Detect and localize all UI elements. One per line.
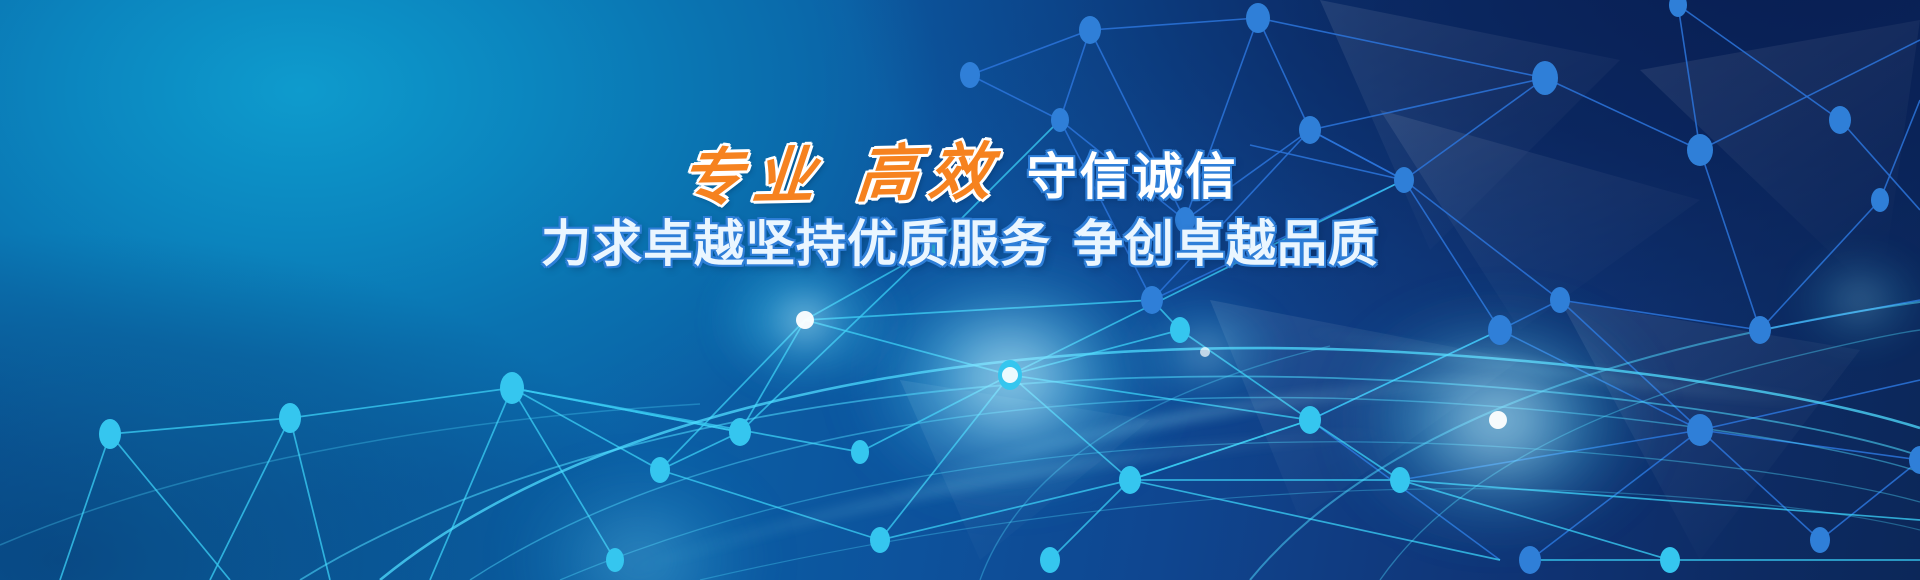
headline-block: 专业 高效 守信诚信 力求卓越坚持优质服务争创卓越品质 — [0, 132, 1920, 271]
globe-arcs — [0, 302, 1920, 580]
network-nodes-blue — [960, 0, 1920, 574]
light-beams — [620, 330, 1840, 575]
promo-banner: 专业 高效 守信诚信 力求卓越坚持优质服务争创卓越品质 — [0, 0, 1920, 580]
background-navy-top-right — [0, 0, 1920, 580]
background-gradient-base — [0, 0, 1920, 580]
headline-line-1: 专业 高效 守信诚信 — [0, 132, 1920, 206]
slogan-brush-text: 专业 高效 — [678, 140, 1029, 209]
network-graphic — [0, 0, 1920, 580]
background-deep-bottom-left — [0, 0, 1920, 580]
slogan-line2-part1: 力求卓越坚持优质服务 — [541, 215, 1051, 273]
slogan-outline-text: 守信诚信 — [1027, 152, 1239, 202]
headline-line-2: 力求卓越坚持优质服务争创卓越品质 — [0, 218, 1920, 271]
slogan-line2-part2: 争创卓越品质 — [1073, 215, 1379, 273]
network-nodes-cyan — [99, 238, 1680, 573]
glow-blooms — [520, 245, 1920, 580]
polygon-facets — [900, 0, 1920, 560]
node-hot-cores — [796, 311, 1507, 429]
network-lines-upper — [970, 5, 1920, 560]
